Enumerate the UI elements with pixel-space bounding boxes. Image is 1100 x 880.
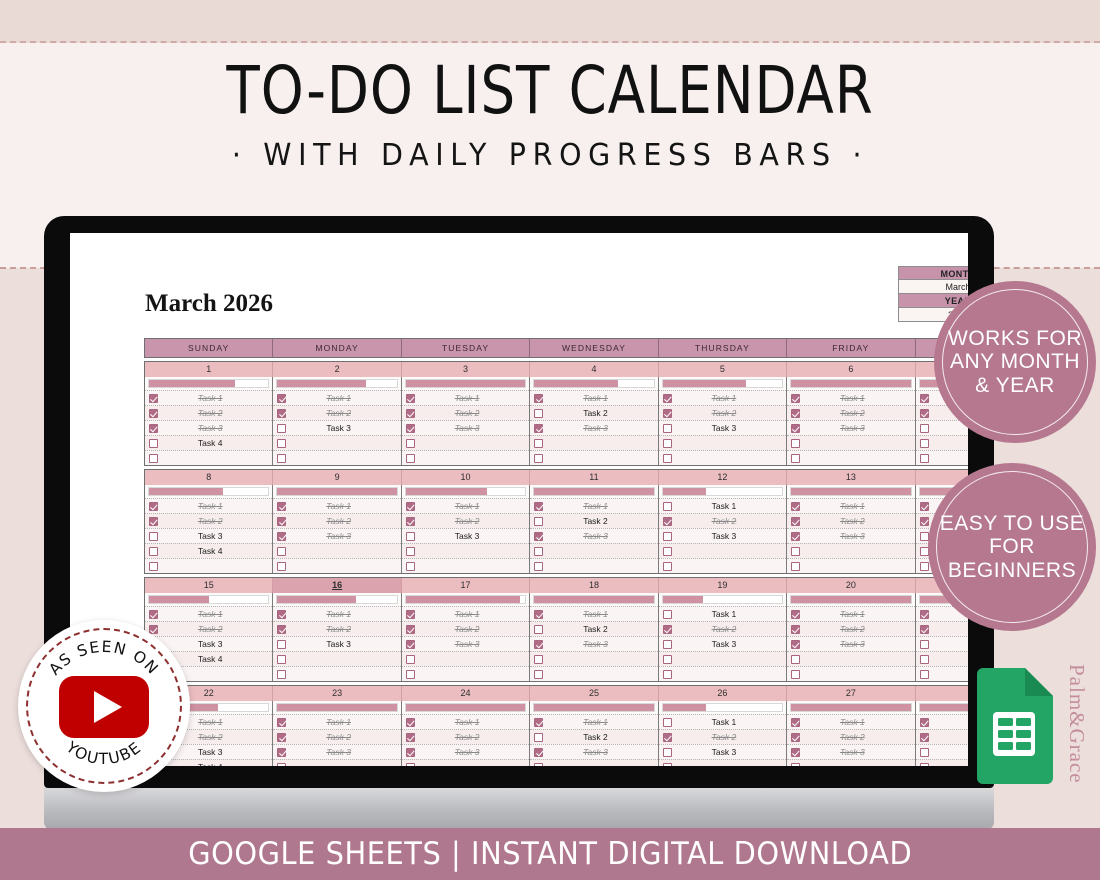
task-checkbox[interactable] <box>406 670 415 679</box>
task-label[interactable]: Task 3 <box>415 423 527 433</box>
day-cell-12: Task 1Task 2Task 3 <box>659 485 787 573</box>
task-checkbox[interactable] <box>791 454 800 463</box>
task-checkbox[interactable] <box>791 532 800 541</box>
task-row: Task 3 <box>273 744 400 759</box>
task-row <box>916 759 968 766</box>
task-checkbox[interactable] <box>920 670 929 679</box>
task-checkbox[interactable] <box>920 733 929 742</box>
task-checkbox[interactable] <box>534 439 543 448</box>
task-checkbox[interactable] <box>791 763 800 767</box>
task-label[interactable]: Task 3 <box>929 639 968 649</box>
task-row: Task 2 <box>273 405 400 420</box>
task-checkbox[interactable] <box>920 763 929 767</box>
task-label[interactable]: Task 3 <box>543 423 655 433</box>
day-cell-17: Task 1Task 2Task 3 <box>402 593 530 681</box>
task-row: Task 3 <box>916 636 968 651</box>
task-row: Task 1 <box>530 498 657 513</box>
task-label[interactable]: Task 2 <box>286 732 398 742</box>
task-label[interactable]: Task 1 <box>158 393 270 403</box>
task-checkbox[interactable] <box>920 409 929 418</box>
task-checkbox[interactable] <box>663 733 672 742</box>
task-label[interactable]: Task 1 <box>672 717 784 727</box>
task-checkbox[interactable] <box>920 562 929 571</box>
task-checkbox[interactable] <box>920 424 929 433</box>
task-checkbox[interactable] <box>406 502 415 511</box>
task-checkbox[interactable] <box>663 655 672 664</box>
task-label[interactable]: Task 1 <box>929 717 968 727</box>
task-label[interactable]: Task 2 <box>158 408 270 418</box>
task-checkbox[interactable] <box>534 517 543 526</box>
task-checkbox[interactable] <box>534 733 543 742</box>
progress-bar-track <box>662 487 783 496</box>
date-number-3[interactable]: 3 <box>402 362 530 377</box>
task-label[interactable]: Task 2 <box>158 516 270 526</box>
task-checkbox[interactable] <box>406 424 415 433</box>
task-row: Task 3 <box>659 528 786 543</box>
task-checkbox[interactable] <box>149 610 158 619</box>
task-checkbox[interactable] <box>791 748 800 757</box>
task-label[interactable]: Task 3 <box>672 531 784 541</box>
task-label[interactable]: Task 1 <box>543 717 655 727</box>
task-row <box>916 435 968 450</box>
month-dropdown[interactable]: March <box>898 280 968 294</box>
task-label[interactable]: Task 3 <box>415 531 527 541</box>
task-label[interactable]: Task 3 <box>158 531 270 541</box>
task-checkbox[interactable] <box>791 547 800 556</box>
task-checkbox[interactable] <box>920 502 929 511</box>
task-label[interactable]: Task 3 <box>929 747 968 757</box>
progress-bar-fill <box>406 488 487 495</box>
task-row: Task 2 <box>659 405 786 420</box>
date-number-17[interactable]: 17 <box>402 578 530 593</box>
progress-bar-fill <box>277 380 365 387</box>
task-checkbox[interactable] <box>277 670 286 679</box>
task-checkbox[interactable] <box>534 424 543 433</box>
task-checkbox[interactable] <box>534 532 543 541</box>
task-checkbox[interactable] <box>277 394 286 403</box>
task-row: Task 2 <box>402 405 529 420</box>
task-checkbox[interactable] <box>149 517 158 526</box>
task-row: Task 3 <box>402 636 529 651</box>
task-row <box>787 450 914 465</box>
task-row: Task 1 <box>145 606 272 621</box>
task-checkbox[interactable] <box>534 655 543 664</box>
task-label[interactable]: Task 1 <box>415 393 527 403</box>
task-checkbox[interactable] <box>406 655 415 664</box>
task-label[interactable]: Task 2 <box>929 624 968 634</box>
task-label[interactable]: Task 1 <box>286 609 398 619</box>
task-checkbox[interactable] <box>663 454 672 463</box>
calendar-week: 1234567Task 1Task 2Task 3Task 4Task 1Tas… <box>144 361 968 466</box>
task-label[interactable]: Task 1 <box>415 609 527 619</box>
date-number-15[interactable]: 15 <box>145 578 273 593</box>
task-label[interactable]: Task 3 <box>158 423 270 433</box>
date-number-12[interactable]: 12 <box>659 470 787 485</box>
task-checkbox[interactable] <box>920 532 929 541</box>
task-label[interactable]: Task 3 <box>929 423 968 433</box>
task-row <box>916 651 968 666</box>
task-label[interactable]: Task 1 <box>800 393 912 403</box>
task-checkbox[interactable] <box>920 547 929 556</box>
task-label[interactable]: Task 2 <box>543 624 655 634</box>
progress-bar-track <box>533 595 654 604</box>
task-checkbox[interactable] <box>791 517 800 526</box>
task-checkbox[interactable] <box>277 424 286 433</box>
day-cell-24: Task 1Task 2Task 3 <box>402 701 530 766</box>
task-label[interactable]: Task 2 <box>286 516 398 526</box>
task-row: Task 2 <box>145 405 272 420</box>
badge-works-any-month: WORKS FOR ANY MONTH & YEAR <box>936 283 1094 441</box>
day-cell-26: Task 1Task 2Task 3 <box>659 701 787 766</box>
task-checkbox[interactable] <box>920 748 929 757</box>
task-checkbox[interactable] <box>277 562 286 571</box>
day-cell-20: Task 1Task 2Task 3 <box>787 593 915 681</box>
task-checkbox[interactable] <box>534 610 543 619</box>
day-cell-5: Task 1Task 2Task 3 <box>659 377 787 465</box>
task-row <box>273 666 400 681</box>
task-label[interactable]: Task 1 <box>415 717 527 727</box>
task-label[interactable]: Task 3 <box>543 747 655 757</box>
date-number-18[interactable]: 18 <box>530 578 658 593</box>
progress-bar-fill <box>920 704 968 711</box>
task-label[interactable]: Task 1 <box>672 393 784 403</box>
task-label[interactable]: Task 2 <box>800 408 912 418</box>
date-number-6[interactable]: 6 <box>787 362 915 377</box>
task-checkbox[interactable] <box>920 517 929 526</box>
task-checkbox[interactable] <box>406 517 415 526</box>
task-checkbox[interactable] <box>791 394 800 403</box>
task-label[interactable]: Task 1 <box>672 501 784 511</box>
task-row: Task 2 <box>273 621 400 636</box>
task-row: Task 2 <box>916 621 968 636</box>
progress-bar-track <box>790 379 911 388</box>
task-row <box>787 435 914 450</box>
task-row <box>659 450 786 465</box>
task-row: Task 2 <box>659 729 786 744</box>
task-row <box>787 651 914 666</box>
task-checkbox[interactable] <box>534 454 543 463</box>
task-label[interactable]: Task 2 <box>286 408 398 418</box>
task-checkbox[interactable] <box>663 763 672 767</box>
task-checkbox[interactable] <box>277 655 286 664</box>
task-row <box>530 558 657 573</box>
task-checkbox[interactable] <box>149 532 158 541</box>
task-checkbox[interactable] <box>277 625 286 634</box>
date-number-25[interactable]: 25 <box>530 686 658 701</box>
task-checkbox[interactable] <box>406 562 415 571</box>
task-checkbox[interactable] <box>277 439 286 448</box>
task-checkbox[interactable] <box>406 625 415 634</box>
task-checkbox[interactable] <box>534 640 543 649</box>
task-checkbox[interactable] <box>791 625 800 634</box>
task-checkbox[interactable] <box>534 547 543 556</box>
task-checkbox[interactable] <box>406 547 415 556</box>
task-label[interactable]: Task 2 <box>415 624 527 634</box>
task-checkbox[interactable] <box>277 532 286 541</box>
date-number-23[interactable]: 23 <box>273 686 401 701</box>
task-checkbox[interactable] <box>406 439 415 448</box>
task-label[interactable]: Task 3 <box>543 531 655 541</box>
task-label[interactable]: Task 4 <box>158 546 270 556</box>
task-label[interactable]: Task 2 <box>929 732 968 742</box>
task-label[interactable]: Task 1 <box>800 717 912 727</box>
task-checkbox[interactable] <box>791 424 800 433</box>
task-checkbox[interactable] <box>791 640 800 649</box>
task-label[interactable]: Task 2 <box>415 516 527 526</box>
task-label[interactable]: Task 3 <box>672 423 784 433</box>
task-checkbox[interactable] <box>149 562 158 571</box>
task-checkbox[interactable] <box>534 748 543 757</box>
task-checkbox[interactable] <box>920 655 929 664</box>
task-checkbox[interactable] <box>277 610 286 619</box>
task-label[interactable]: Task 3 <box>543 639 655 649</box>
day-cell-3: Task 1Task 2Task 3 <box>402 377 530 465</box>
task-row: Task 1 <box>273 498 400 513</box>
task-label[interactable]: Task 1 <box>543 609 655 619</box>
task-label[interactable]: Task 1 <box>158 501 270 511</box>
task-checkbox[interactable] <box>149 454 158 463</box>
task-row: Task 1 <box>273 606 400 621</box>
task-label[interactable]: Task 1 <box>800 609 912 619</box>
task-label[interactable]: Task 2 <box>286 624 398 634</box>
task-checkbox[interactable] <box>663 610 672 619</box>
progress-bar-fill <box>663 380 747 387</box>
task-checkbox[interactable] <box>663 670 672 679</box>
week-date-row: 15161718192021 <box>145 578 968 593</box>
task-checkbox[interactable] <box>406 733 415 742</box>
task-checkbox[interactable] <box>663 547 672 556</box>
task-checkbox[interactable] <box>663 424 672 433</box>
task-checkbox[interactable] <box>277 718 286 727</box>
task-label[interactable]: Task 2 <box>415 408 527 418</box>
task-checkbox[interactable] <box>406 640 415 649</box>
date-number-24[interactable]: 24 <box>402 686 530 701</box>
task-checkbox[interactable] <box>534 763 543 767</box>
task-checkbox[interactable] <box>663 562 672 571</box>
progress-bar-track <box>662 379 783 388</box>
task-row: Task 2 <box>273 513 400 528</box>
task-label[interactable]: Task 3 <box>672 747 784 757</box>
task-label[interactable]: Task 2 <box>543 516 655 526</box>
task-label[interactable]: Task 3 <box>286 531 398 541</box>
task-checkbox[interactable] <box>663 640 672 649</box>
task-label[interactable]: Task 2 <box>800 732 912 742</box>
task-checkbox[interactable] <box>406 454 415 463</box>
task-label[interactable]: Task 3 <box>415 747 527 757</box>
task-label[interactable]: Task 2 <box>415 732 527 742</box>
date-number-16[interactable]: 16 <box>273 578 401 593</box>
task-label[interactable]: Task 3 <box>800 639 912 649</box>
task-checkbox[interactable] <box>406 610 415 619</box>
task-row: Task 1 <box>787 390 914 405</box>
task-checkbox[interactable] <box>791 718 800 727</box>
task-checkbox[interactable] <box>406 409 415 418</box>
task-label[interactable]: Task 4 <box>158 438 270 448</box>
task-checkbox[interactable] <box>791 409 800 418</box>
task-label[interactable]: Task 3 <box>800 423 912 433</box>
task-label[interactable]: Task 3 <box>800 747 912 757</box>
task-checkbox[interactable] <box>791 670 800 679</box>
task-label[interactable]: Task 1 <box>800 501 912 511</box>
task-label[interactable]: Task 2 <box>672 516 784 526</box>
calendar-week: 891011121314Task 1Task 2Task 3Task 4Task… <box>144 469 968 574</box>
task-row: Task 2 <box>787 621 914 636</box>
task-checkbox[interactable] <box>791 562 800 571</box>
date-number-13[interactable]: 13 <box>787 470 915 485</box>
task-label[interactable]: Task 1 <box>543 501 655 511</box>
task-checkbox[interactable] <box>149 394 158 403</box>
task-row <box>402 435 529 450</box>
task-checkbox[interactable] <box>920 454 929 463</box>
task-label[interactable]: Task 3 <box>415 639 527 649</box>
task-checkbox[interactable] <box>663 409 672 418</box>
progress-bar-fill <box>277 596 356 603</box>
task-checkbox[interactable] <box>663 748 672 757</box>
task-label[interactable]: Task 2 <box>800 516 912 526</box>
task-row: Task 1 <box>145 498 272 513</box>
task-checkbox[interactable] <box>534 562 543 571</box>
task-checkbox[interactable] <box>406 748 415 757</box>
task-checkbox[interactable] <box>277 733 286 742</box>
week-day-cells: Task 1Task 2Task 3Task 4Task 1Task 2Task… <box>145 701 968 766</box>
date-number-26[interactable]: 26 <box>659 686 787 701</box>
date-number-9[interactable]: 9 <box>273 470 401 485</box>
task-label[interactable]: Task 3 <box>672 639 784 649</box>
task-checkbox[interactable] <box>277 502 286 511</box>
task-label[interactable]: Task 1 <box>543 393 655 403</box>
page-title: TO-DO LIST CALENDAR <box>44 58 1056 124</box>
task-checkbox[interactable] <box>663 718 672 727</box>
date-number-11[interactable]: 11 <box>530 470 658 485</box>
progress-bar-track <box>276 487 397 496</box>
task-checkbox[interactable] <box>277 517 286 526</box>
task-checkbox[interactable] <box>920 640 929 649</box>
task-row <box>659 558 786 573</box>
task-checkbox[interactable] <box>406 718 415 727</box>
weekday-header-thursday: THURSDAY <box>659 339 787 357</box>
task-label[interactable]: Task 2 <box>800 624 912 634</box>
task-checkbox[interactable] <box>277 454 286 463</box>
task-label[interactable]: Task 1 <box>158 609 270 619</box>
task-label[interactable]: Task 2 <box>543 408 655 418</box>
task-checkbox[interactable] <box>663 517 672 526</box>
task-row: Task 1 <box>787 498 914 513</box>
progress-bar-track <box>148 487 269 496</box>
task-row <box>659 666 786 681</box>
date-number-5[interactable]: 5 <box>659 362 787 377</box>
day-cell-16: Task 1Task 2Task 3 <box>273 593 401 681</box>
task-checkbox[interactable] <box>534 502 543 511</box>
task-checkbox[interactable] <box>149 424 158 433</box>
task-row: Task 2 <box>273 729 400 744</box>
task-checkbox[interactable] <box>791 502 800 511</box>
task-checkbox[interactable] <box>277 763 286 767</box>
task-label[interactable]: Task 3 <box>800 531 912 541</box>
task-label[interactable]: Task 1 <box>286 501 398 511</box>
calendar-week: 22232425262728Task 1Task 2Task 3Task 4Ta… <box>144 685 968 766</box>
task-label[interactable]: Task 2 <box>672 732 784 742</box>
progress-bar-track <box>533 379 654 388</box>
task-checkbox[interactable] <box>149 502 158 511</box>
date-number-19[interactable]: 19 <box>659 578 787 593</box>
task-row: Task 3 <box>402 744 529 759</box>
task-label[interactable]: Task 1 <box>672 609 784 619</box>
date-number-10[interactable]: 10 <box>402 470 530 485</box>
task-checkbox[interactable] <box>277 748 286 757</box>
progress-bar-fill <box>791 596 910 603</box>
task-checkbox[interactable] <box>406 532 415 541</box>
task-checkbox[interactable] <box>663 502 672 511</box>
progress-bar-track <box>276 595 397 604</box>
task-label[interactable]: Task 3 <box>286 747 398 757</box>
task-label[interactable]: Task 1 <box>286 393 398 403</box>
task-row <box>145 450 272 465</box>
date-number-1[interactable]: 1 <box>145 362 273 377</box>
task-row <box>787 666 914 681</box>
date-number-4[interactable]: 4 <box>530 362 658 377</box>
date-number-27[interactable]: 27 <box>787 686 915 701</box>
task-label[interactable]: Task 2 <box>672 408 784 418</box>
progress-bar-fill <box>791 488 910 495</box>
progress-bar-track <box>276 703 397 712</box>
task-checkbox[interactable] <box>920 718 929 727</box>
task-checkbox[interactable] <box>791 439 800 448</box>
task-checkbox[interactable] <box>534 409 543 418</box>
task-label[interactable]: Task 3 <box>286 639 398 649</box>
task-label[interactable]: Task 1 <box>286 717 398 727</box>
progress-bar-fill <box>534 596 653 603</box>
task-row: Task 1 <box>530 606 657 621</box>
task-checkbox[interactable] <box>663 532 672 541</box>
task-label[interactable]: Task 2 <box>543 732 655 742</box>
task-checkbox[interactable] <box>277 640 286 649</box>
task-checkbox[interactable] <box>791 733 800 742</box>
task-checkbox[interactable] <box>534 718 543 727</box>
progress-bar-track <box>790 703 911 712</box>
date-number-20[interactable]: 20 <box>787 578 915 593</box>
task-checkbox[interactable] <box>277 409 286 418</box>
task-checkbox[interactable] <box>663 625 672 634</box>
task-row: Task 2 <box>402 729 529 744</box>
task-checkbox[interactable] <box>406 394 415 403</box>
task-checkbox[interactable] <box>663 439 672 448</box>
task-checkbox[interactable] <box>149 547 158 556</box>
task-checkbox[interactable] <box>791 610 800 619</box>
progress-bar-fill <box>534 704 653 711</box>
task-label[interactable]: Task 2 <box>672 624 784 634</box>
task-label[interactable]: Task 1 <box>415 501 527 511</box>
task-checkbox[interactable] <box>277 547 286 556</box>
task-checkbox[interactable] <box>920 394 929 403</box>
task-checkbox[interactable] <box>791 655 800 664</box>
progress-bar-fill <box>791 704 910 711</box>
task-checkbox[interactable] <box>406 763 415 767</box>
task-checkbox[interactable] <box>149 409 158 418</box>
task-checkbox[interactable] <box>663 394 672 403</box>
task-label[interactable]: Task 3 <box>286 423 398 433</box>
footer-text: GOOGLE SHEETS | INSTANT DIGITAL DOWNLOAD <box>188 836 912 872</box>
task-checkbox[interactable] <box>920 439 929 448</box>
task-checkbox[interactable] <box>149 439 158 448</box>
task-checkbox[interactable] <box>920 610 929 619</box>
task-checkbox[interactable] <box>534 670 543 679</box>
date-number-8[interactable]: 8 <box>145 470 273 485</box>
date-number-28[interactable]: 28 <box>916 686 968 701</box>
task-checkbox[interactable] <box>534 394 543 403</box>
date-number-2[interactable]: 2 <box>273 362 401 377</box>
task-checkbox[interactable] <box>534 625 543 634</box>
task-checkbox[interactable] <box>920 625 929 634</box>
